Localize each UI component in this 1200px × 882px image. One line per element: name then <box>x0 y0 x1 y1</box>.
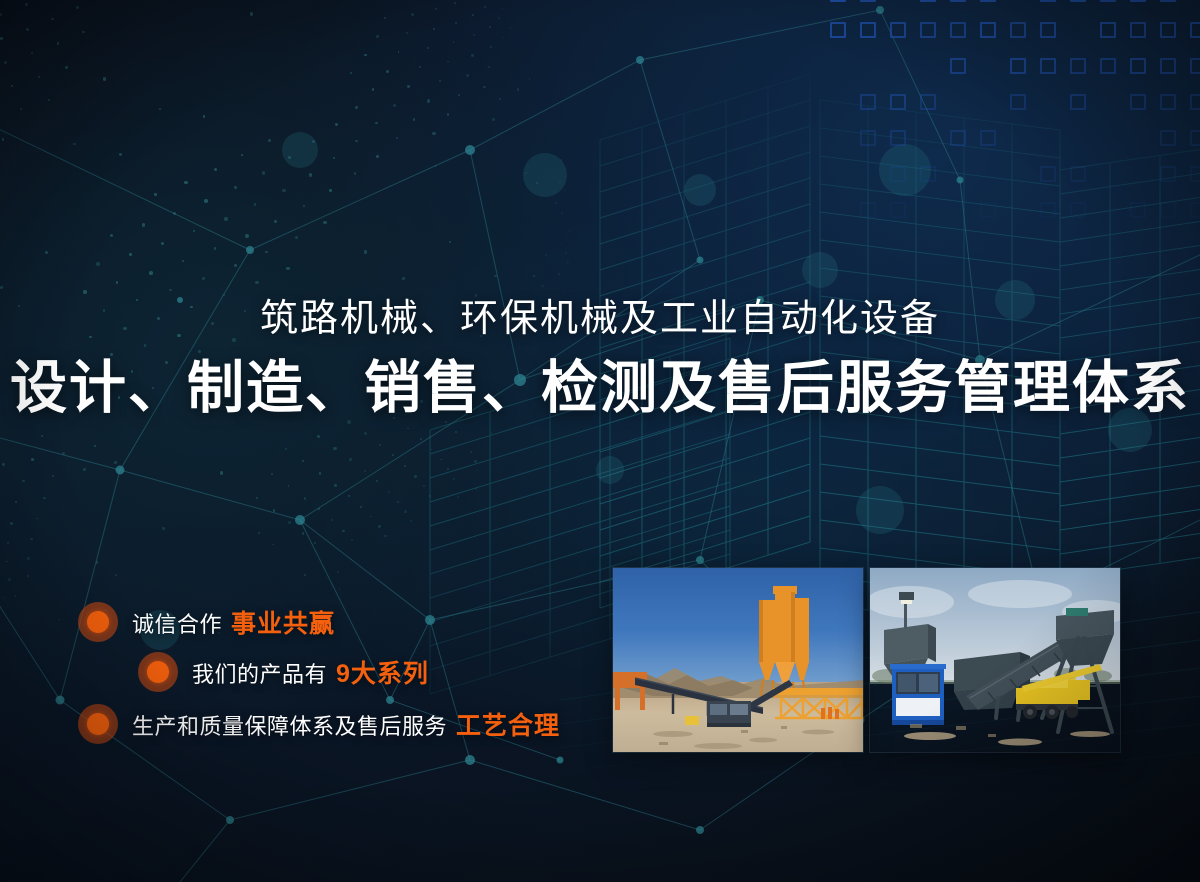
promo-banner: 筑路机械、环保机械及工业自动化设备 设计、制造、销售、检测及售后服务管理体系 诚… <box>0 0 1200 882</box>
vignette-overlay <box>0 0 1200 882</box>
